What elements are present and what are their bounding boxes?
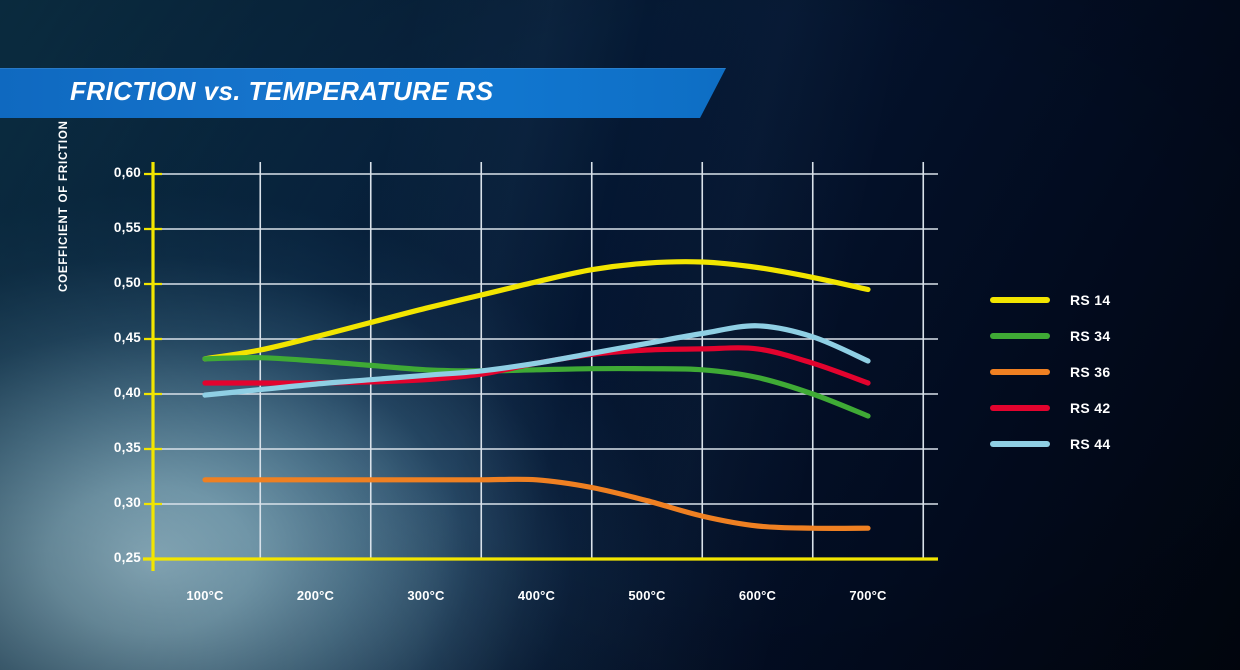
legend-item-rs-44[interactable]: RS 44 <box>990 426 1110 462</box>
x-axis-tick-label: 700°C <box>828 588 908 603</box>
chart-screenshot: FRICTION vs. TEMPERATURE RS COEFFICIENT … <box>0 0 1240 670</box>
legend-swatch <box>990 405 1050 411</box>
legend-label: RS 14 <box>1070 292 1110 308</box>
y-axis-tick-label: 0,40 <box>95 385 141 400</box>
y-axis-tick-label: 0,30 <box>95 495 141 510</box>
chart-legend: RS 14RS 34RS 36RS 42RS 44 <box>990 282 1110 462</box>
legend-swatch <box>990 297 1050 303</box>
data-series-group <box>205 262 868 529</box>
legend-label: RS 44 <box>1070 436 1110 452</box>
legend-item-rs-36[interactable]: RS 36 <box>990 354 1110 390</box>
legend-label: RS 34 <box>1070 328 1110 344</box>
legend-item-rs-34[interactable]: RS 34 <box>990 318 1110 354</box>
legend-label: RS 36 <box>1070 364 1110 380</box>
x-axis-tick-label: 500°C <box>607 588 687 603</box>
legend-item-rs-14[interactable]: RS 14 <box>990 282 1110 318</box>
legend-swatch <box>990 441 1050 447</box>
legend-item-rs-42[interactable]: RS 42 <box>990 390 1110 426</box>
y-axis-tick-label: 0,55 <box>95 220 141 235</box>
legend-label: RS 42 <box>1070 400 1110 416</box>
y-axis-tick-label: 0,25 <box>95 550 141 565</box>
x-axis-tick-label: 600°C <box>718 588 798 603</box>
y-axis-tick-label: 0,45 <box>95 330 141 345</box>
y-axis-tick-label: 0,35 <box>95 440 141 455</box>
legend-swatch <box>990 369 1050 375</box>
y-axis-tick-label: 0,60 <box>95 165 141 180</box>
legend-swatch <box>990 333 1050 339</box>
x-axis-tick-label: 200°C <box>276 588 356 603</box>
x-axis-tick-label: 300°C <box>386 588 466 603</box>
y-axis-tick-label: 0,50 <box>95 275 141 290</box>
y-axis-title: COEFFICIENT OF FRICTION <box>58 72 70 292</box>
data-line-rs-14 <box>205 262 868 359</box>
x-axis-tick-label: 100°C <box>165 588 245 603</box>
x-axis-tick-label: 400°C <box>497 588 577 603</box>
